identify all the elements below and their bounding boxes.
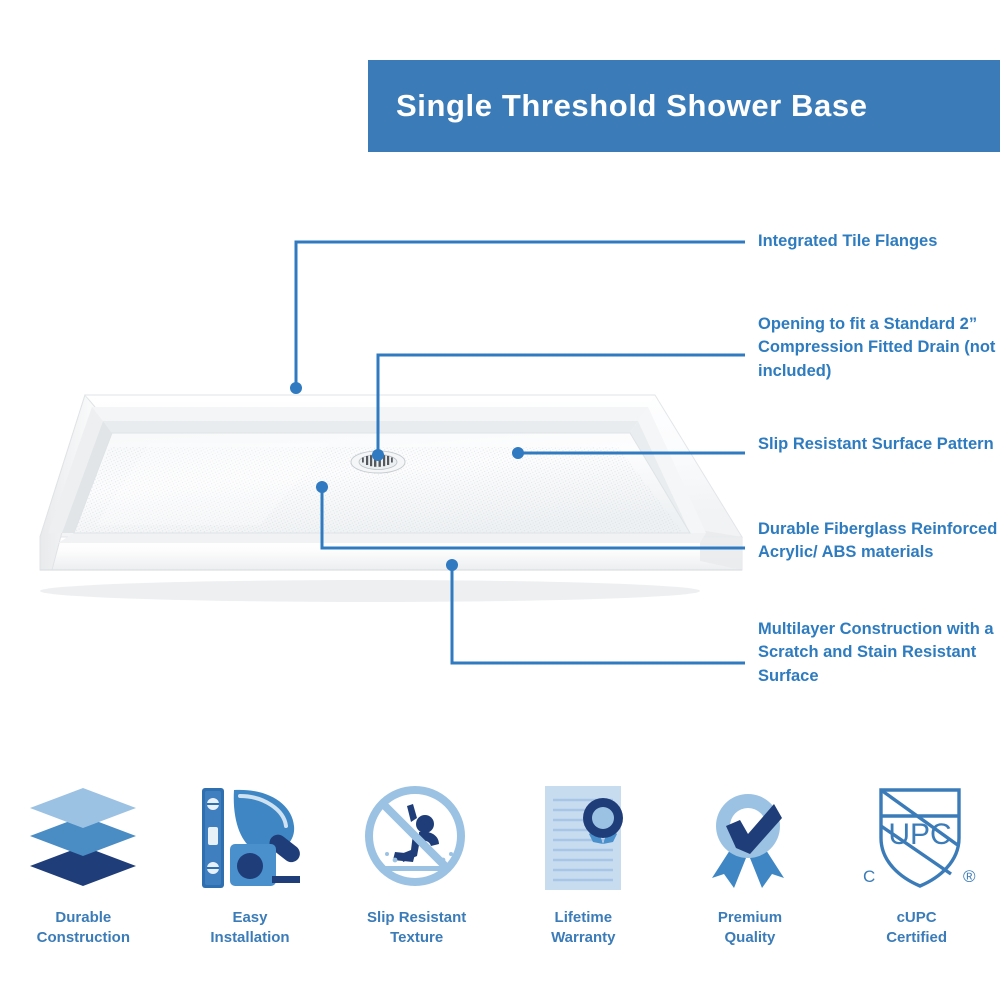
feature-label-cupc-certified: cUPC Certified [886,908,947,947]
callout-drain-opening: Opening to fit a Standard 2” Compression… [758,313,998,383]
callout-durable-fiberglass-materials: Durable Fiberglass Reinforced Acrylic/ A… [758,518,998,565]
tools-icon [190,778,310,898]
upc-shield-text: UPC [888,818,951,851]
feature-label-premium-quality: Premium Quality [718,908,782,947]
feature-label-slip-resistant-texture: Slip Resistant Texture [367,908,466,947]
page-title: Single Threshold Shower Base [396,88,868,124]
certificate-icon [523,778,643,898]
feature-label-lifetime-warranty: Lifetime Warranty [551,908,615,947]
product-image [0,355,760,615]
upc-prefix-c: C [863,867,875,886]
feature-strip: Durable Construction [0,778,1000,978]
layers-icon [23,778,143,898]
feature-label-easy-installation: Easy Installation [210,908,289,947]
no-slip-icon [357,778,477,898]
feature-lifetime-warranty: Lifetime Warranty [500,778,666,947]
shower-base-illustration [0,355,760,615]
award-check-icon [690,778,810,898]
feature-cupc-certified: UPC C ® cUPC Certified [834,778,1000,947]
callout-integrated-tile-flanges: Integrated Tile Flanges [758,230,998,253]
upc-shield-icon: UPC C ® [855,778,979,898]
drain-grate [351,451,405,473]
feature-premium-quality: Premium Quality [667,778,833,947]
feature-easy-installation: Easy Installation [167,778,333,947]
infographic-page: Single Threshold Shower Base [0,0,1000,1000]
upc-registered-mark: ® [963,867,976,886]
feature-slip-resistant-texture: Slip Resistant Texture [334,778,500,947]
feature-label-durable-construction: Durable Construction [37,908,130,947]
callout-slip-resistant-surface-pattern: Slip Resistant Surface Pattern [758,433,998,456]
title-banner: Single Threshold Shower Base [368,60,1000,152]
feature-durable-construction: Durable Construction [0,778,166,947]
callout-multilayer-construction: Multilayer Construction with a Scratch a… [758,618,998,688]
